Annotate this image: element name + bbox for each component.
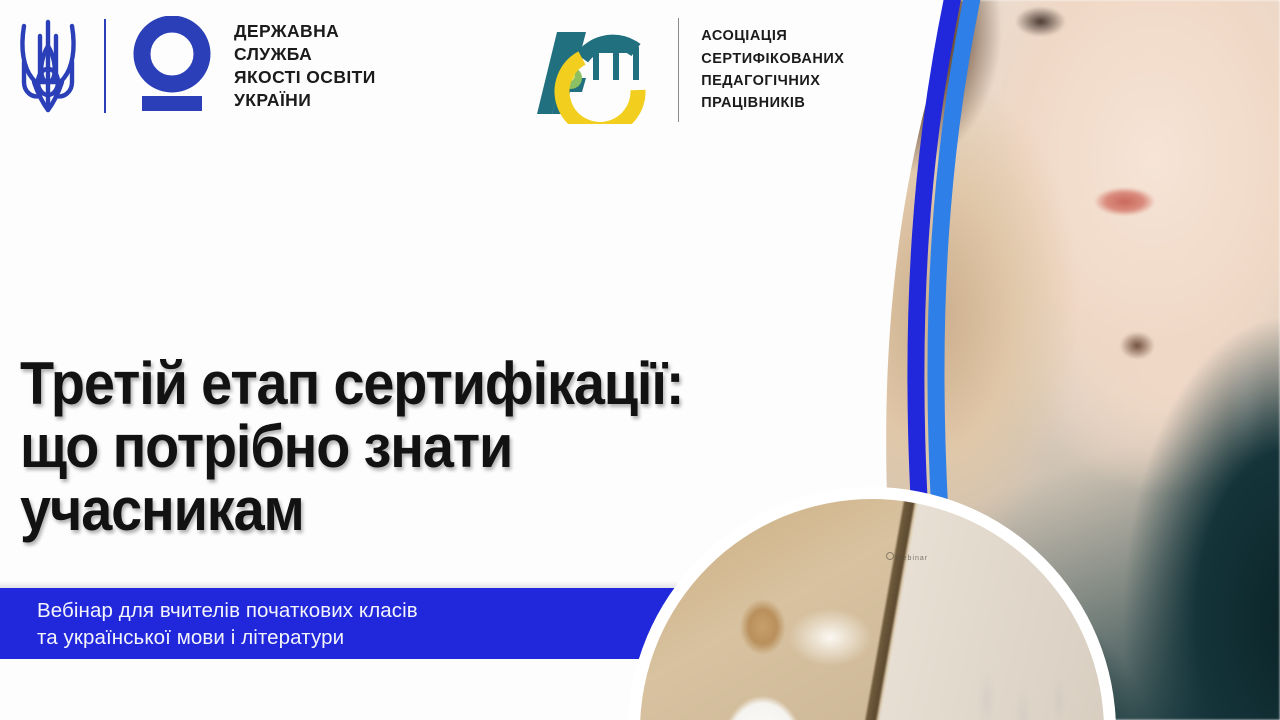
header-logos: ДЕРЖАВНА СЛУЖБА ЯКОСТІ ОСВІТИ УКРАЇНИ [14,16,844,124]
sqe-line-4: УКРАЇНИ [234,89,376,112]
banner-stage: ДЕРЖАВНА СЛУЖБА ЯКОСТІ ОСВІТИ УКРАЇНИ [0,0,1280,720]
subtitle-line-2: та української мови і літератури [37,624,418,651]
desk-scene-backdrop [640,499,1104,720]
aspp-logo-text: АСОЦІАЦІЯ СЕРТИФІКОВАНИХ ПЕДАГОГІЧНИХ ПР… [701,25,844,115]
aspp-monogram [524,16,656,124]
screen-tag-label: Webinar [895,555,928,562]
aspp-line-4: ПРАЦІВНИКІВ [701,92,844,114]
sqe-line-1: ДЕРЖАВНА [234,20,376,43]
sqe-line-3: ЯКОСТІ ОСВІТИ [234,66,376,89]
sqe-logo-group: ДЕРЖАВНА СЛУЖБА ЯКОСТІ ОСВІТИ УКРАЇНИ [14,16,376,116]
ukraine-trident-emblem [14,16,82,116]
aspp-line-2: СЕРТИФІКОВАНИХ [701,48,844,70]
subtitle-text: Вебінар для вчителів початкових класів т… [0,597,418,651]
subtitle-line-1: Вебінар для вчителів початкових класів [37,597,418,624]
aspp-logo-divider [678,18,680,122]
title-line-2: що потрібно знати [20,415,820,478]
webinar-photo-circle: Webinar WEBINA [628,487,1116,720]
sqe-line-2: СЛУЖБА [234,43,376,66]
webinar-photo-surface: Webinar WEBINA [640,499,1104,720]
aspp-line-3: ПЕДАГОГІЧНИХ [701,70,844,92]
sqe-ring-mark [128,16,216,116]
screen-logo-icon [886,552,894,560]
sqe-logo-text: ДЕРЖАВНА СЛУЖБА ЯКОСТІ ОСВІТИ УКРАЇНИ [234,20,376,112]
title-line-1: Третій етап сертифікації: [20,352,820,415]
subtitle-bar: Вебінар для вчителів початкових класів т… [0,588,700,659]
aspp-line-1: АСОЦІАЦІЯ [701,25,844,47]
aspp-logo-group: АСОЦІАЦІЯ СЕРТИФІКОВАНИХ ПЕДАГОГІЧНИХ ПР… [524,16,845,124]
logo-divider [104,19,106,113]
